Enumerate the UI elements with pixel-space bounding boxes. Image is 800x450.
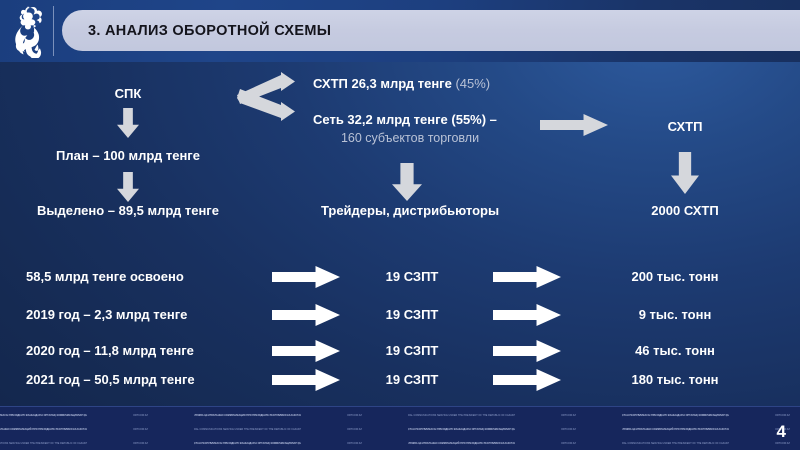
footer-watermark-text: ҚАЗАҚСТАН РЕСПУБЛИКАСЫ ПРЕЗИДЕНТІ ЖАНЫНД… [408,422,515,436]
snow-leopard-emblem-icon [8,4,50,58]
table-row-middle-3: 19 СЗПТ [386,343,439,359]
table-row-middle-4: 19 СЗПТ [386,372,439,388]
arrow-down-icon-middle [392,163,422,201]
table-row: 2021 год – 50,5 млрд тенге [26,372,195,388]
footer-watermark-band: ҚАЗАҚСТАН РЕСПУБЛИКАСЫ ПРЕЗИДЕНТІ ЖАНЫНД… [0,406,800,450]
table-row-result-2: 9 тыс. тонн [639,307,712,323]
footer-watermark-text: ORTCOM.KZ [515,408,622,422]
footer-watermark-text: СЛУЖБА ЦЕНТРАЛЬНЫХ КОММУНИКАЦИЙ ПРИ ПРЕЗ… [194,408,301,422]
footer-watermark-text: ҚАЗАҚСТАН РЕСПУБЛИКАСЫ ПРЕЗИДЕНТІ ЖАНЫНД… [194,436,301,450]
footer-watermark-text: СЛУЖБА ЦЕНТРАЛЬНЫХ КОММУНИКАЦИЙ ПРИ ПРЕЗ… [0,422,87,436]
arrow-right-icon-to-shtp [540,114,608,136]
arrow-down-icon-right [671,152,699,194]
footer-watermark-text: CENTRAL COMMUNICATIONS SERVICE UNDER THE… [622,436,729,450]
header-divider [53,6,54,56]
arrow-right-icon-row-1b [493,266,561,288]
footer-watermark-text: ORTCOM.KZ [301,436,408,450]
footer-watermark-text: ORTCOM.KZ [87,422,194,436]
arrow-fork-icon [237,72,307,130]
footer-watermark-text: ҚАЗАҚСТАН РЕСПУБЛИКАСЫ ПРЕЗИДЕНТІ ЖАНЫНД… [622,408,729,422]
table-row: 58,5 млрд тенге освоено [26,269,184,285]
arrow-right-icon-row-2b [493,304,561,326]
branch-top-percent: (45%) [455,76,490,91]
left-node-spk: СПК [115,86,142,102]
left-node-allocated: Выделено – 89,5 млрд тенге [37,203,219,219]
slide-header: 3. АНАЛИЗ ОБОРОТНОЙ СХЕМЫ [0,0,800,62]
branch-top-row: СХТП 26,3 млрд тенге (45%) [313,76,490,92]
arrow-right-icon-row-4b [493,369,561,391]
table-row-result-4: 180 тыс. тонн [631,372,718,388]
footer-watermark-text: СЛУЖБА ЦЕНТРАЛЬНЫХ КОММУНИКАЦИЙ ПРИ ПРЕЗ… [622,422,729,436]
footer-watermark-text: CENTRAL COMMUNICATIONS SERVICE UNDER THE… [408,408,515,422]
footer-watermark-text: ORTCOM.KZ [729,436,800,450]
arrow-right-icon-row-3b [493,340,561,362]
table-row-result-1: 200 тыс. тонн [631,269,718,285]
arrow-right-icon-row-3a [272,340,340,362]
footer-watermark-text: ҚАЗАҚСТАН РЕСПУБЛИКАСЫ ПРЕЗИДЕНТІ ЖАНЫНД… [0,408,87,422]
arrow-right-icon-row-1a [272,266,340,288]
branch-top-main: СХТП 26,3 млрд тенге [313,76,452,91]
table-row-result-3: 46 тыс. тонн [635,343,715,359]
right-node-shtp: СХТП [668,119,703,135]
footer-watermark-text: ORTCOM.KZ [301,422,408,436]
footer-watermark-pattern: ҚАЗАҚСТАН РЕСПУБЛИКАСЫ ПРЕЗИДЕНТІ ЖАНЫНД… [0,408,800,450]
footer-watermark-text: ORTCOM.KZ [87,436,194,450]
branch-bottom-main: Сеть 32,2 млрд тенге (55%) – [313,112,497,128]
footer-watermark-text: ORTCOM.KZ [87,408,194,422]
footer-watermark-text: ORTCOM.KZ [729,422,800,436]
footer-watermark-text: CENTRAL COMMUNICATIONS SERVICE UNDER THE… [194,422,301,436]
table-row: 2019 год – 2,3 млрд тенге [26,307,187,323]
presentation-slide: 3. АНАЛИЗ ОБОРОТНОЙ СХЕМЫ СПК План – 100… [0,0,800,450]
footer-watermark-text: ORTCOM.KZ [515,436,622,450]
right-node-2000-shtp: 2000 СХТП [651,203,718,219]
page-number: 4 [777,422,786,442]
footer-watermark-text: ORTCOM.KZ [729,408,800,422]
footer-watermark-text: ORTCOM.KZ [515,422,622,436]
arrow-right-icon-row-2a [272,304,340,326]
footer-watermark-text: CENTRAL COMMUNICATIONS SERVICE UNDER THE… [0,436,87,450]
table-row-middle-2: 19 СЗПТ [386,307,439,323]
footer-watermark-text: ORTCOM.KZ [301,408,408,422]
left-node-plan: План – 100 млрд тенге [56,148,200,164]
footer-watermark-text: СЛУЖБА ЦЕНТРАЛЬНЫХ КОММУНИКАЦИЙ ПРИ ПРЕЗ… [408,436,515,450]
branch-bottom-sub: 160 субъектов торговли [341,131,479,147]
table-row: 2020 год – 11,8 млрд тенге [26,343,194,359]
arrow-down-icon-left-1 [117,108,139,138]
arrow-down-icon-left-2 [117,172,139,202]
slide-title-pill: 3. АНАЛИЗ ОБОРОТНОЙ СХЕМЫ [62,10,800,51]
table-row-middle-1: 19 СЗПТ [386,269,439,285]
arrow-right-icon-row-4a [272,369,340,391]
middle-node-traders: Трейдеры, дистрибьюторы [321,203,499,219]
page-title: 3. АНАЛИЗ ОБОРОТНОЙ СХЕМЫ [88,23,331,39]
